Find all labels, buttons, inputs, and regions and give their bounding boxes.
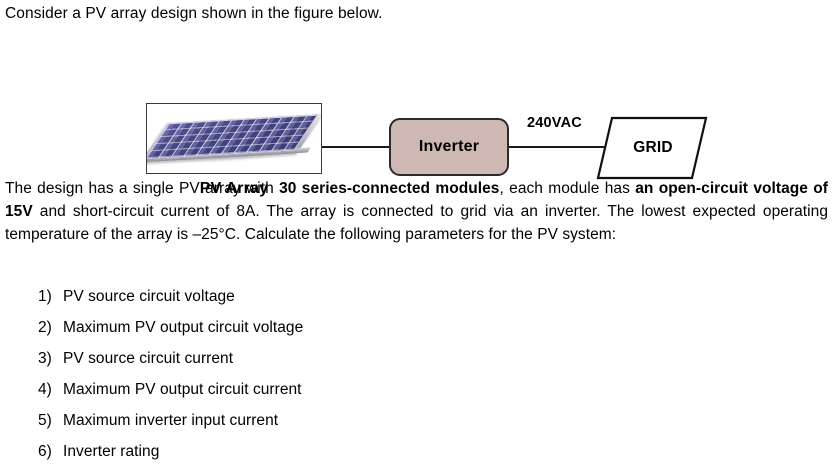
body-bold-modules: 30 series-connected modules	[279, 180, 499, 197]
problem-statement: The design has a single PV array with 30…	[5, 177, 828, 246]
wire-pv-to-inverter	[322, 146, 390, 148]
list-item-label: Maximum PV output circuit current	[63, 374, 302, 405]
list-item-number: 1)	[38, 281, 60, 312]
list-item-number: 6)	[38, 436, 60, 467]
list-item: 6) Inverter rating	[0, 436, 832, 467]
inverter-label: Inverter	[419, 138, 479, 156]
solar-panel-icon	[155, 112, 315, 166]
list-item-label: PV source circuit voltage	[63, 281, 235, 312]
list-item-label: Inverter rating	[63, 436, 159, 467]
list-item-number: 5)	[38, 405, 60, 436]
body-segment-3: and short-circuit current of 8A. The arr…	[5, 203, 828, 243]
list-item: 4) Maximum PV output circuit current	[0, 374, 832, 405]
question-list: 1) PV source circuit voltage 2) Maximum …	[0, 281, 832, 467]
pv-array-box	[146, 103, 322, 174]
list-item-label: PV source circuit current	[63, 343, 233, 374]
list-item-label: Maximum inverter input current	[63, 405, 278, 436]
list-item-label: Maximum PV output circuit voltage	[63, 312, 303, 343]
list-item: 1) PV source circuit voltage	[0, 281, 832, 312]
grid-label: GRID	[596, 116, 708, 180]
list-item: 2) Maximum PV output circuit voltage	[0, 312, 832, 343]
list-item-number: 4)	[38, 374, 60, 405]
list-item-number: 2)	[38, 312, 60, 343]
list-item-number: 3)	[38, 343, 60, 374]
pv-system-block-diagram: PV Array Inverter 240VAC GRID	[0, 46, 832, 164]
inverter-block: Inverter	[389, 118, 509, 176]
body-segment-1: The design has a single PV array with	[5, 180, 279, 197]
connection-voltage-label: 240VAC	[527, 115, 582, 131]
body-segment-2: , each module has	[499, 180, 635, 197]
list-item: 5) Maximum inverter input current	[0, 405, 832, 436]
list-item: 3) PV source circuit current	[0, 343, 832, 374]
intro-text: Consider a PV array design shown in the …	[5, 4, 383, 24]
